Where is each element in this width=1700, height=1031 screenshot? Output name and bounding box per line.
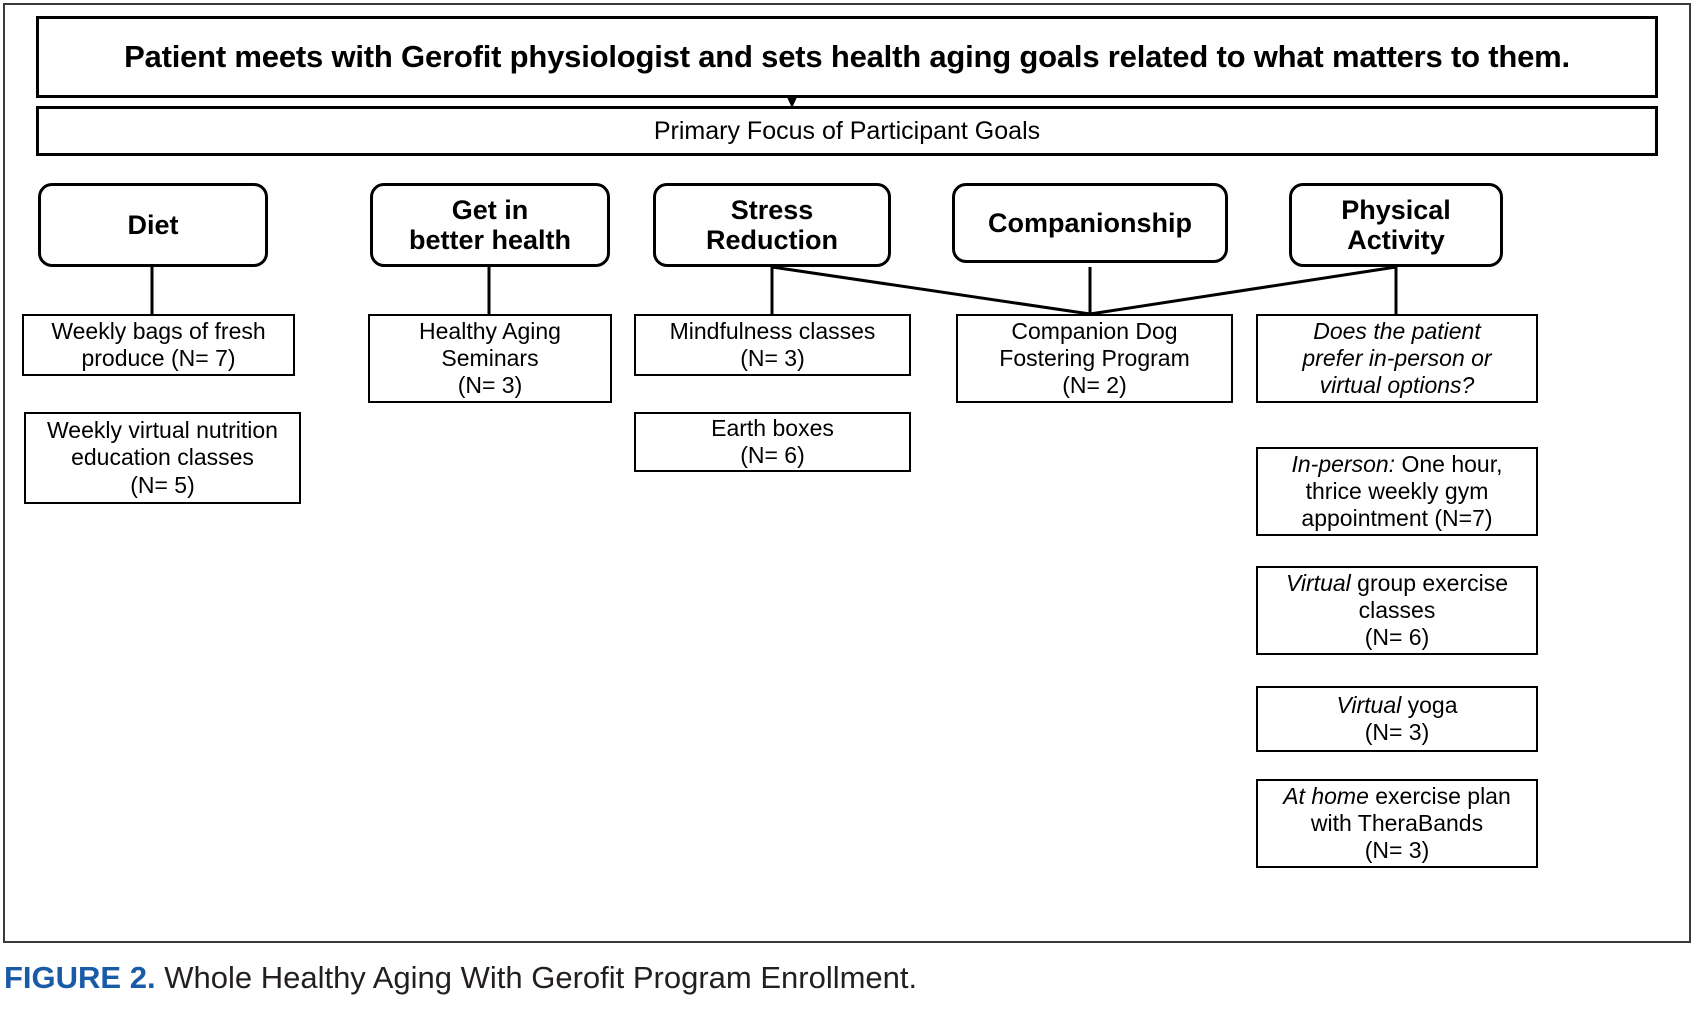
diet-produce-line1: Weekly bags of fresh xyxy=(51,318,265,344)
figure-root: Patient meets with Gerofit physiologist … xyxy=(0,0,1700,1031)
child-box-pa-virtual-group[interactable]: Virtual group exercise classes (N= 6) xyxy=(1256,566,1538,655)
child-box-mindfulness-classes[interactable]: Mindfulness classes (N= 3) xyxy=(634,314,911,376)
category-label-diet: Diet xyxy=(127,210,178,240)
mindfulness-line2: (N= 3) xyxy=(740,345,805,371)
pa-question-line1: Does the patient xyxy=(1313,318,1481,344)
category-box-diet[interactable]: Diet xyxy=(38,183,268,267)
mindfulness-line1: Mindfulness classes xyxy=(670,318,876,344)
companion-dog-line3: (N= 2) xyxy=(1062,372,1127,398)
header-subtitle-box: Primary Focus of Participant Goals xyxy=(36,106,1658,156)
pa-virtual-group-line2: classes xyxy=(1359,597,1436,623)
header-subtitle-text: Primary Focus of Participant Goals xyxy=(39,116,1655,146)
figure-caption: FIGURE 2. Whole Healthy Aging With Gerof… xyxy=(4,960,1694,996)
child-box-earth-boxes[interactable]: Earth boxes (N= 6) xyxy=(634,412,911,472)
category-label-stress-reduction-line1: Stress xyxy=(731,195,814,225)
category-label-physical-activity-line1: Physical xyxy=(1341,195,1451,225)
pa-virtual-group-line1: group exercise xyxy=(1351,570,1508,596)
category-label-get-in-better-health-line1: Get in xyxy=(452,195,529,225)
companion-dog-line1: Companion Dog xyxy=(1011,318,1177,344)
child-box-pa-virtual-yoga[interactable]: Virtual yoga (N= 3) xyxy=(1256,686,1538,752)
header-title-text: Patient meets with Gerofit physiologist … xyxy=(39,39,1655,76)
category-box-stress-reduction[interactable]: Stress Reduction xyxy=(653,183,891,267)
figure-caption-label: FIGURE 2. xyxy=(4,960,156,995)
category-label-stress-reduction-line2: Reduction xyxy=(706,225,838,255)
category-label-companionship: Companionship xyxy=(988,208,1192,238)
category-label-get-in-better-health-line2: better health xyxy=(409,225,571,255)
diet-nutrition-line2: education classes xyxy=(71,444,254,470)
pa-in-person-line2: thrice weekly gym xyxy=(1306,478,1489,504)
pa-virtual-group-line3: (N= 6) xyxy=(1365,624,1430,650)
category-box-companionship[interactable]: Companionship xyxy=(952,183,1228,263)
seminars-line2: Seminars xyxy=(441,345,538,371)
diet-nutrition-line3: (N= 5) xyxy=(130,472,195,498)
header-title-box: Patient meets with Gerofit physiologist … xyxy=(36,16,1658,98)
diet-produce-line2: produce (N= 7) xyxy=(81,345,235,371)
child-box-diet-produce[interactable]: Weekly bags of fresh produce (N= 7) xyxy=(22,314,295,376)
child-box-pa-preference-question[interactable]: Does the patient prefer in-person or vir… xyxy=(1256,314,1538,403)
pa-virtual-yoga-lead: Virtual xyxy=(1336,692,1401,718)
pa-virtual-group-lead: Virtual xyxy=(1286,570,1351,596)
pa-in-person-line1: One hour, xyxy=(1395,451,1502,477)
seminars-line3: (N= 3) xyxy=(458,372,523,398)
pa-at-home-line2: with TheraBands xyxy=(1311,810,1483,836)
child-box-companion-dog[interactable]: Companion Dog Fostering Program (N= 2) xyxy=(956,314,1233,403)
pa-virtual-yoga-line2: (N= 3) xyxy=(1365,719,1430,745)
category-label-physical-activity-line2: Activity xyxy=(1347,225,1445,255)
diet-nutrition-line1: Weekly virtual nutrition xyxy=(47,417,278,443)
pa-at-home-lead: At home xyxy=(1283,783,1369,809)
pa-at-home-line3: (N= 3) xyxy=(1365,837,1430,863)
pa-question-line3: virtual options? xyxy=(1320,372,1475,398)
pa-virtual-yoga-line1: yoga xyxy=(1401,692,1457,718)
companion-dog-line2: Fostering Program xyxy=(999,345,1189,371)
child-box-diet-nutrition[interactable]: Weekly virtual nutrition education class… xyxy=(24,412,301,504)
pa-in-person-lead: In-person: xyxy=(1292,451,1396,477)
child-box-pa-at-home[interactable]: At home exercise plan with TheraBands (N… xyxy=(1256,779,1538,868)
earth-boxes-line2: (N= 6) xyxy=(740,442,805,468)
pa-at-home-line1: exercise plan xyxy=(1369,783,1511,809)
child-box-healthy-aging-seminars[interactable]: Healthy Aging Seminars (N= 3) xyxy=(368,314,612,403)
category-box-physical-activity[interactable]: Physical Activity xyxy=(1289,183,1503,267)
figure-caption-text: Whole Healthy Aging With Gerofit Program… xyxy=(164,960,917,995)
pa-question-line2: prefer in-person or xyxy=(1302,345,1491,371)
child-box-pa-in-person-gym[interactable]: In-person: One hour, thrice weekly gym a… xyxy=(1256,447,1538,536)
seminars-line1: Healthy Aging xyxy=(419,318,561,344)
pa-in-person-line3: appointment (N=7) xyxy=(1301,505,1492,531)
earth-boxes-line1: Earth boxes xyxy=(711,415,834,441)
category-box-get-in-better-health[interactable]: Get in better health xyxy=(370,183,610,267)
